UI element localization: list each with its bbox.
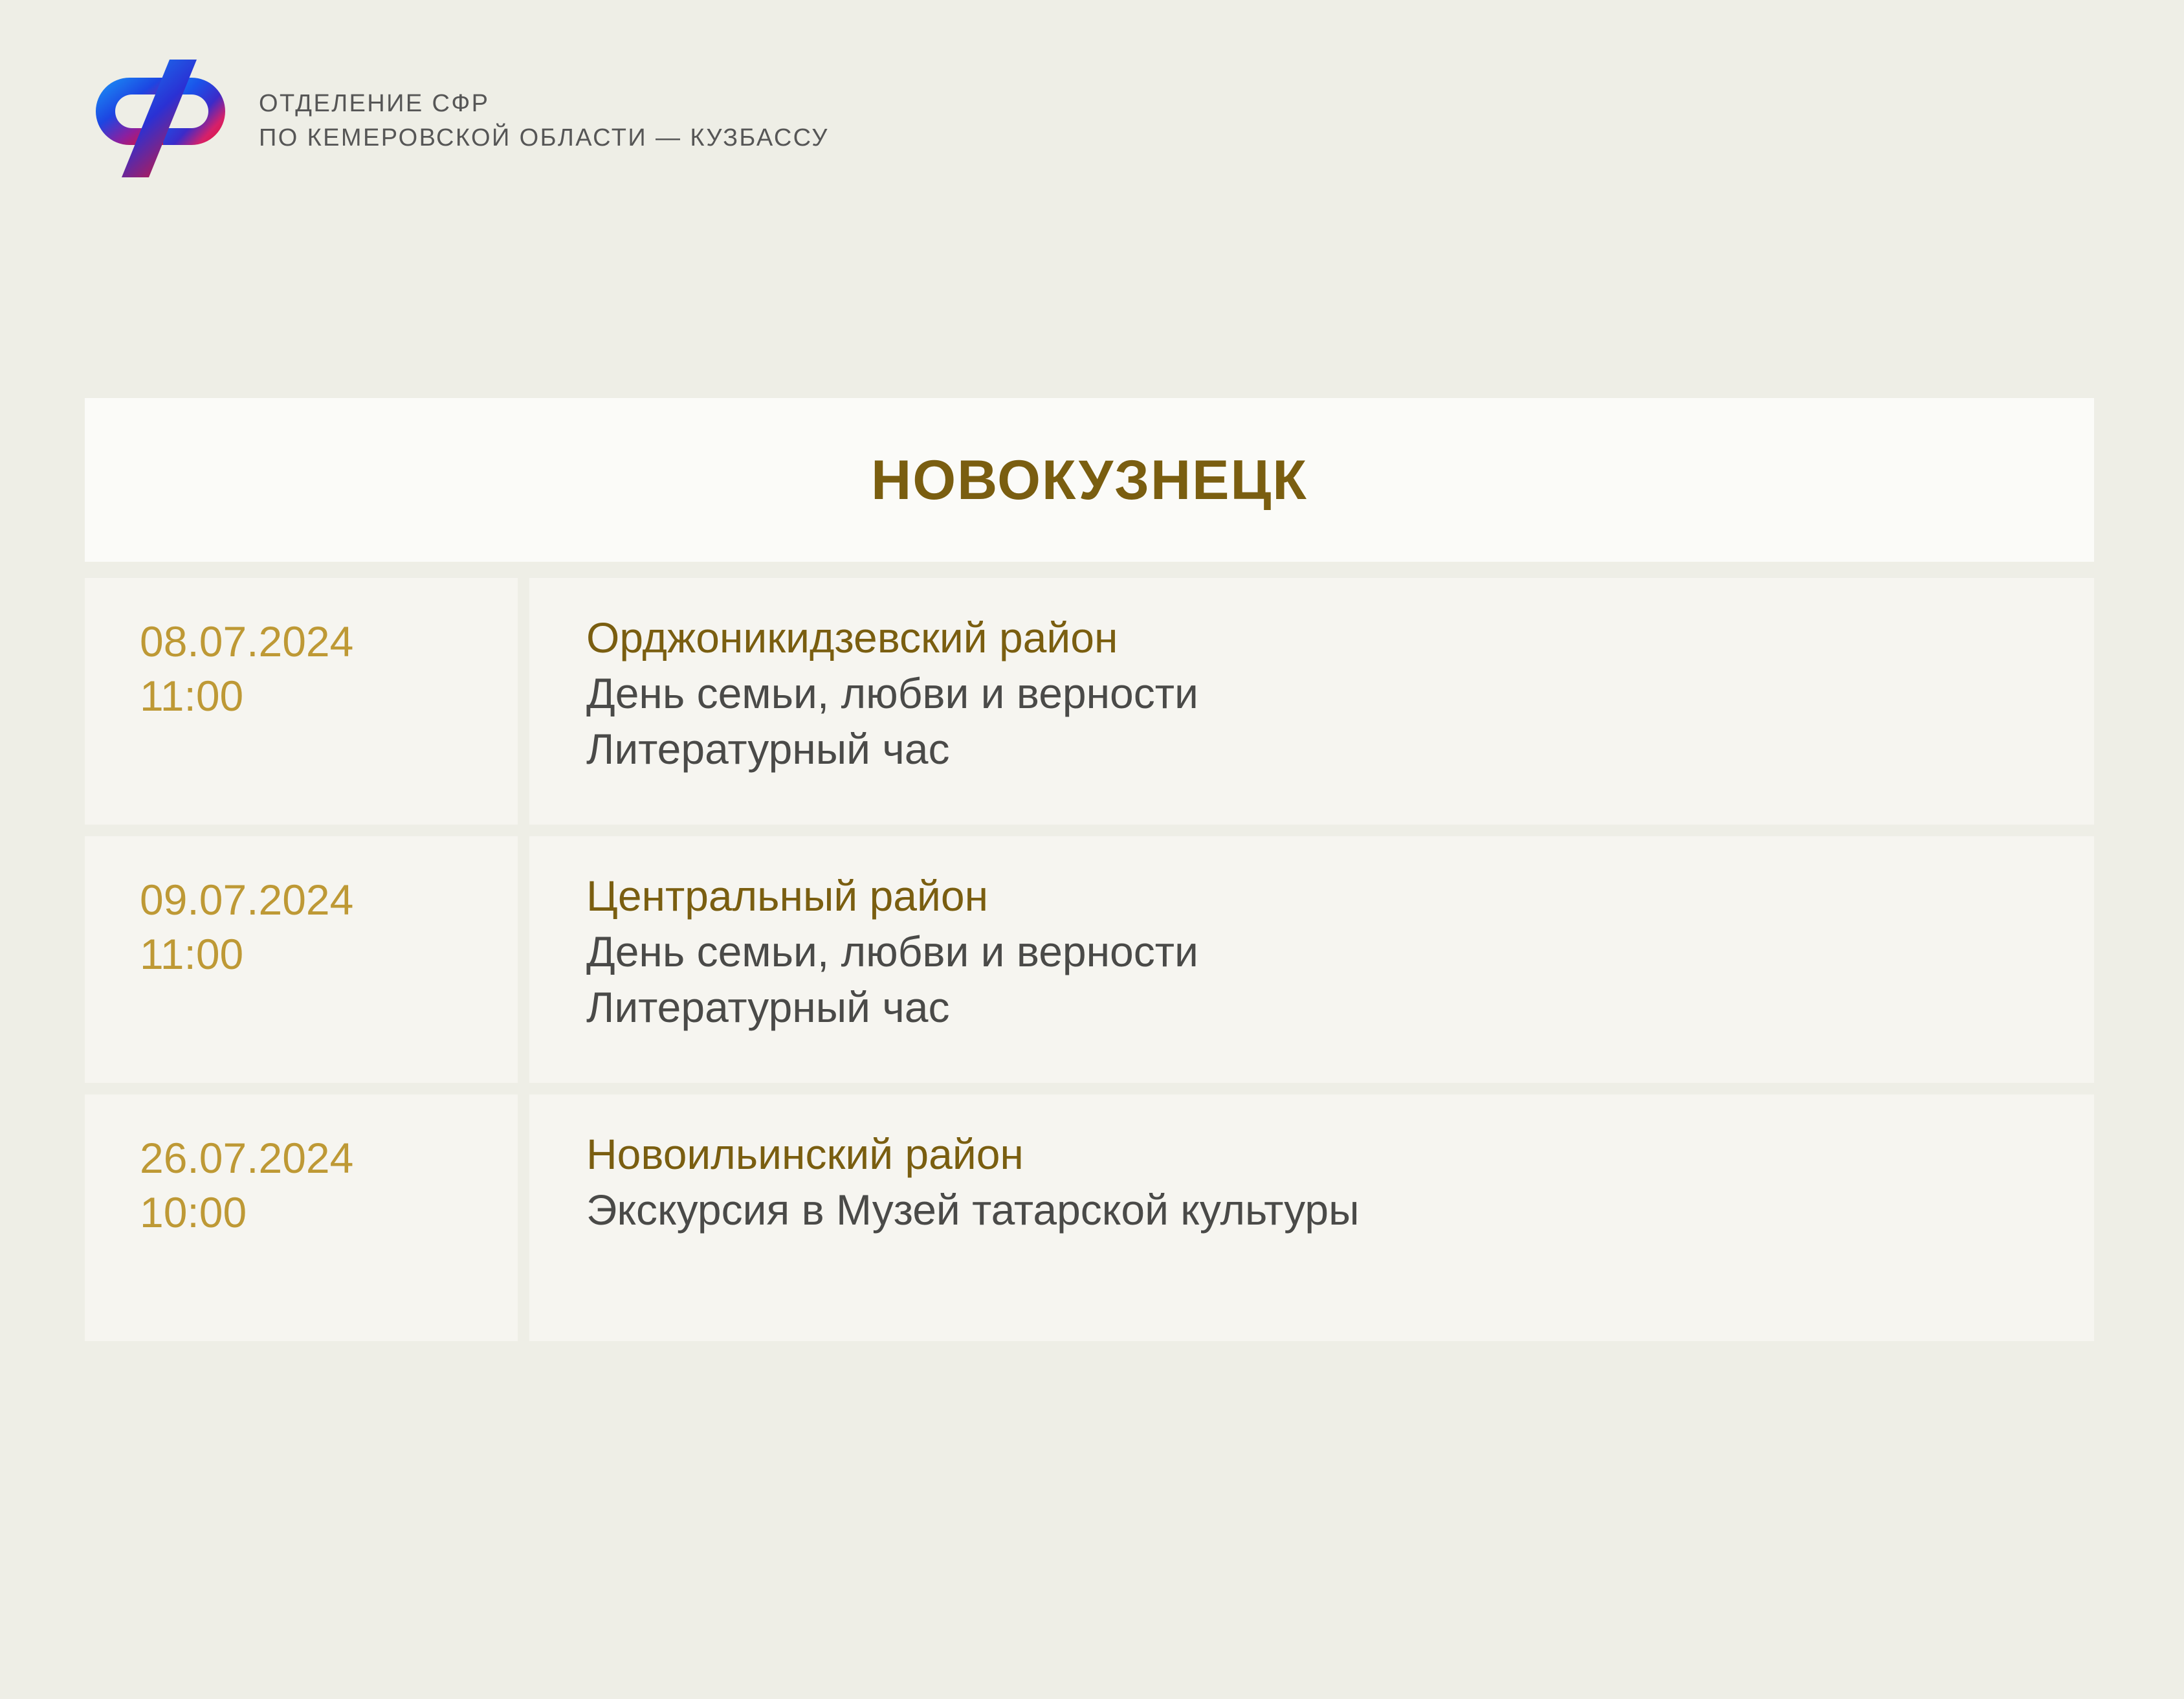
event-district: Новоильинский район xyxy=(586,1127,2055,1183)
schedule-table: НОВОКУЗНЕЦК 08.07.202411:00Орджоникидзев… xyxy=(85,398,2094,1341)
event-description-line: Литературный час xyxy=(586,980,2055,1036)
table-row: 09.07.202411:00Центральный районДень сем… xyxy=(85,836,2094,1083)
brand-header: ОТДЕЛЕНИЕ СФР ПО КЕМЕРОВСКОЙ ОБЛАСТИ — К… xyxy=(91,57,829,180)
brand-caption: ОТДЕЛЕНИЕ СФР ПО КЕМЕРОВСКОЙ ОБЛАСТИ — К… xyxy=(259,85,829,151)
brand-line-1: ОТДЕЛЕНИЕ СФР xyxy=(259,91,829,117)
row-content-cell: Новоильинский районЭкскурсия в Музей тат… xyxy=(529,1094,2094,1341)
event-date: 08.07.2024 xyxy=(140,614,518,669)
event-time: 10:00 xyxy=(140,1185,518,1239)
event-district: Орджоникидзевский район xyxy=(586,610,2055,666)
event-district: Центральный район xyxy=(586,869,2055,924)
row-date-cell: 09.07.202411:00 xyxy=(85,836,518,1083)
event-description-line: День семьи, любви и верности xyxy=(586,666,2055,722)
event-description-line: Литературный час xyxy=(586,722,2055,777)
event-time: 11:00 xyxy=(140,927,518,981)
city-banner: НОВОКУЗНЕЦК xyxy=(85,398,2094,562)
page-title: НОВОКУЗНЕЦК xyxy=(871,452,1308,508)
row-date-cell: 08.07.202411:00 xyxy=(85,578,518,825)
event-date: 26.07.2024 xyxy=(140,1131,518,1185)
event-description-line: Экскурсия в Музей татарской культуры xyxy=(586,1183,2055,1238)
row-content-cell: Орджоникидзевский районДень семьи, любви… xyxy=(529,578,2094,825)
event-time: 11:00 xyxy=(140,669,518,723)
event-description-line: День семьи, любви и верности xyxy=(586,924,2055,980)
schedule-rows: 08.07.202411:00Орджоникидзевский районДе… xyxy=(85,578,2094,1341)
sfr-logo-icon xyxy=(91,57,234,180)
table-row: 08.07.202411:00Орджоникидзевский районДе… xyxy=(85,578,2094,825)
table-row: 26.07.202410:00Новоильинский районЭкскур… xyxy=(85,1094,2094,1341)
row-date-cell: 26.07.202410:00 xyxy=(85,1094,518,1341)
row-content-cell: Центральный районДень семьи, любви и вер… xyxy=(529,836,2094,1083)
event-date: 09.07.2024 xyxy=(140,872,518,927)
brand-line-2: ПО КЕМЕРОВСКОЙ ОБЛАСТИ — КУЗБАССУ xyxy=(259,125,829,151)
